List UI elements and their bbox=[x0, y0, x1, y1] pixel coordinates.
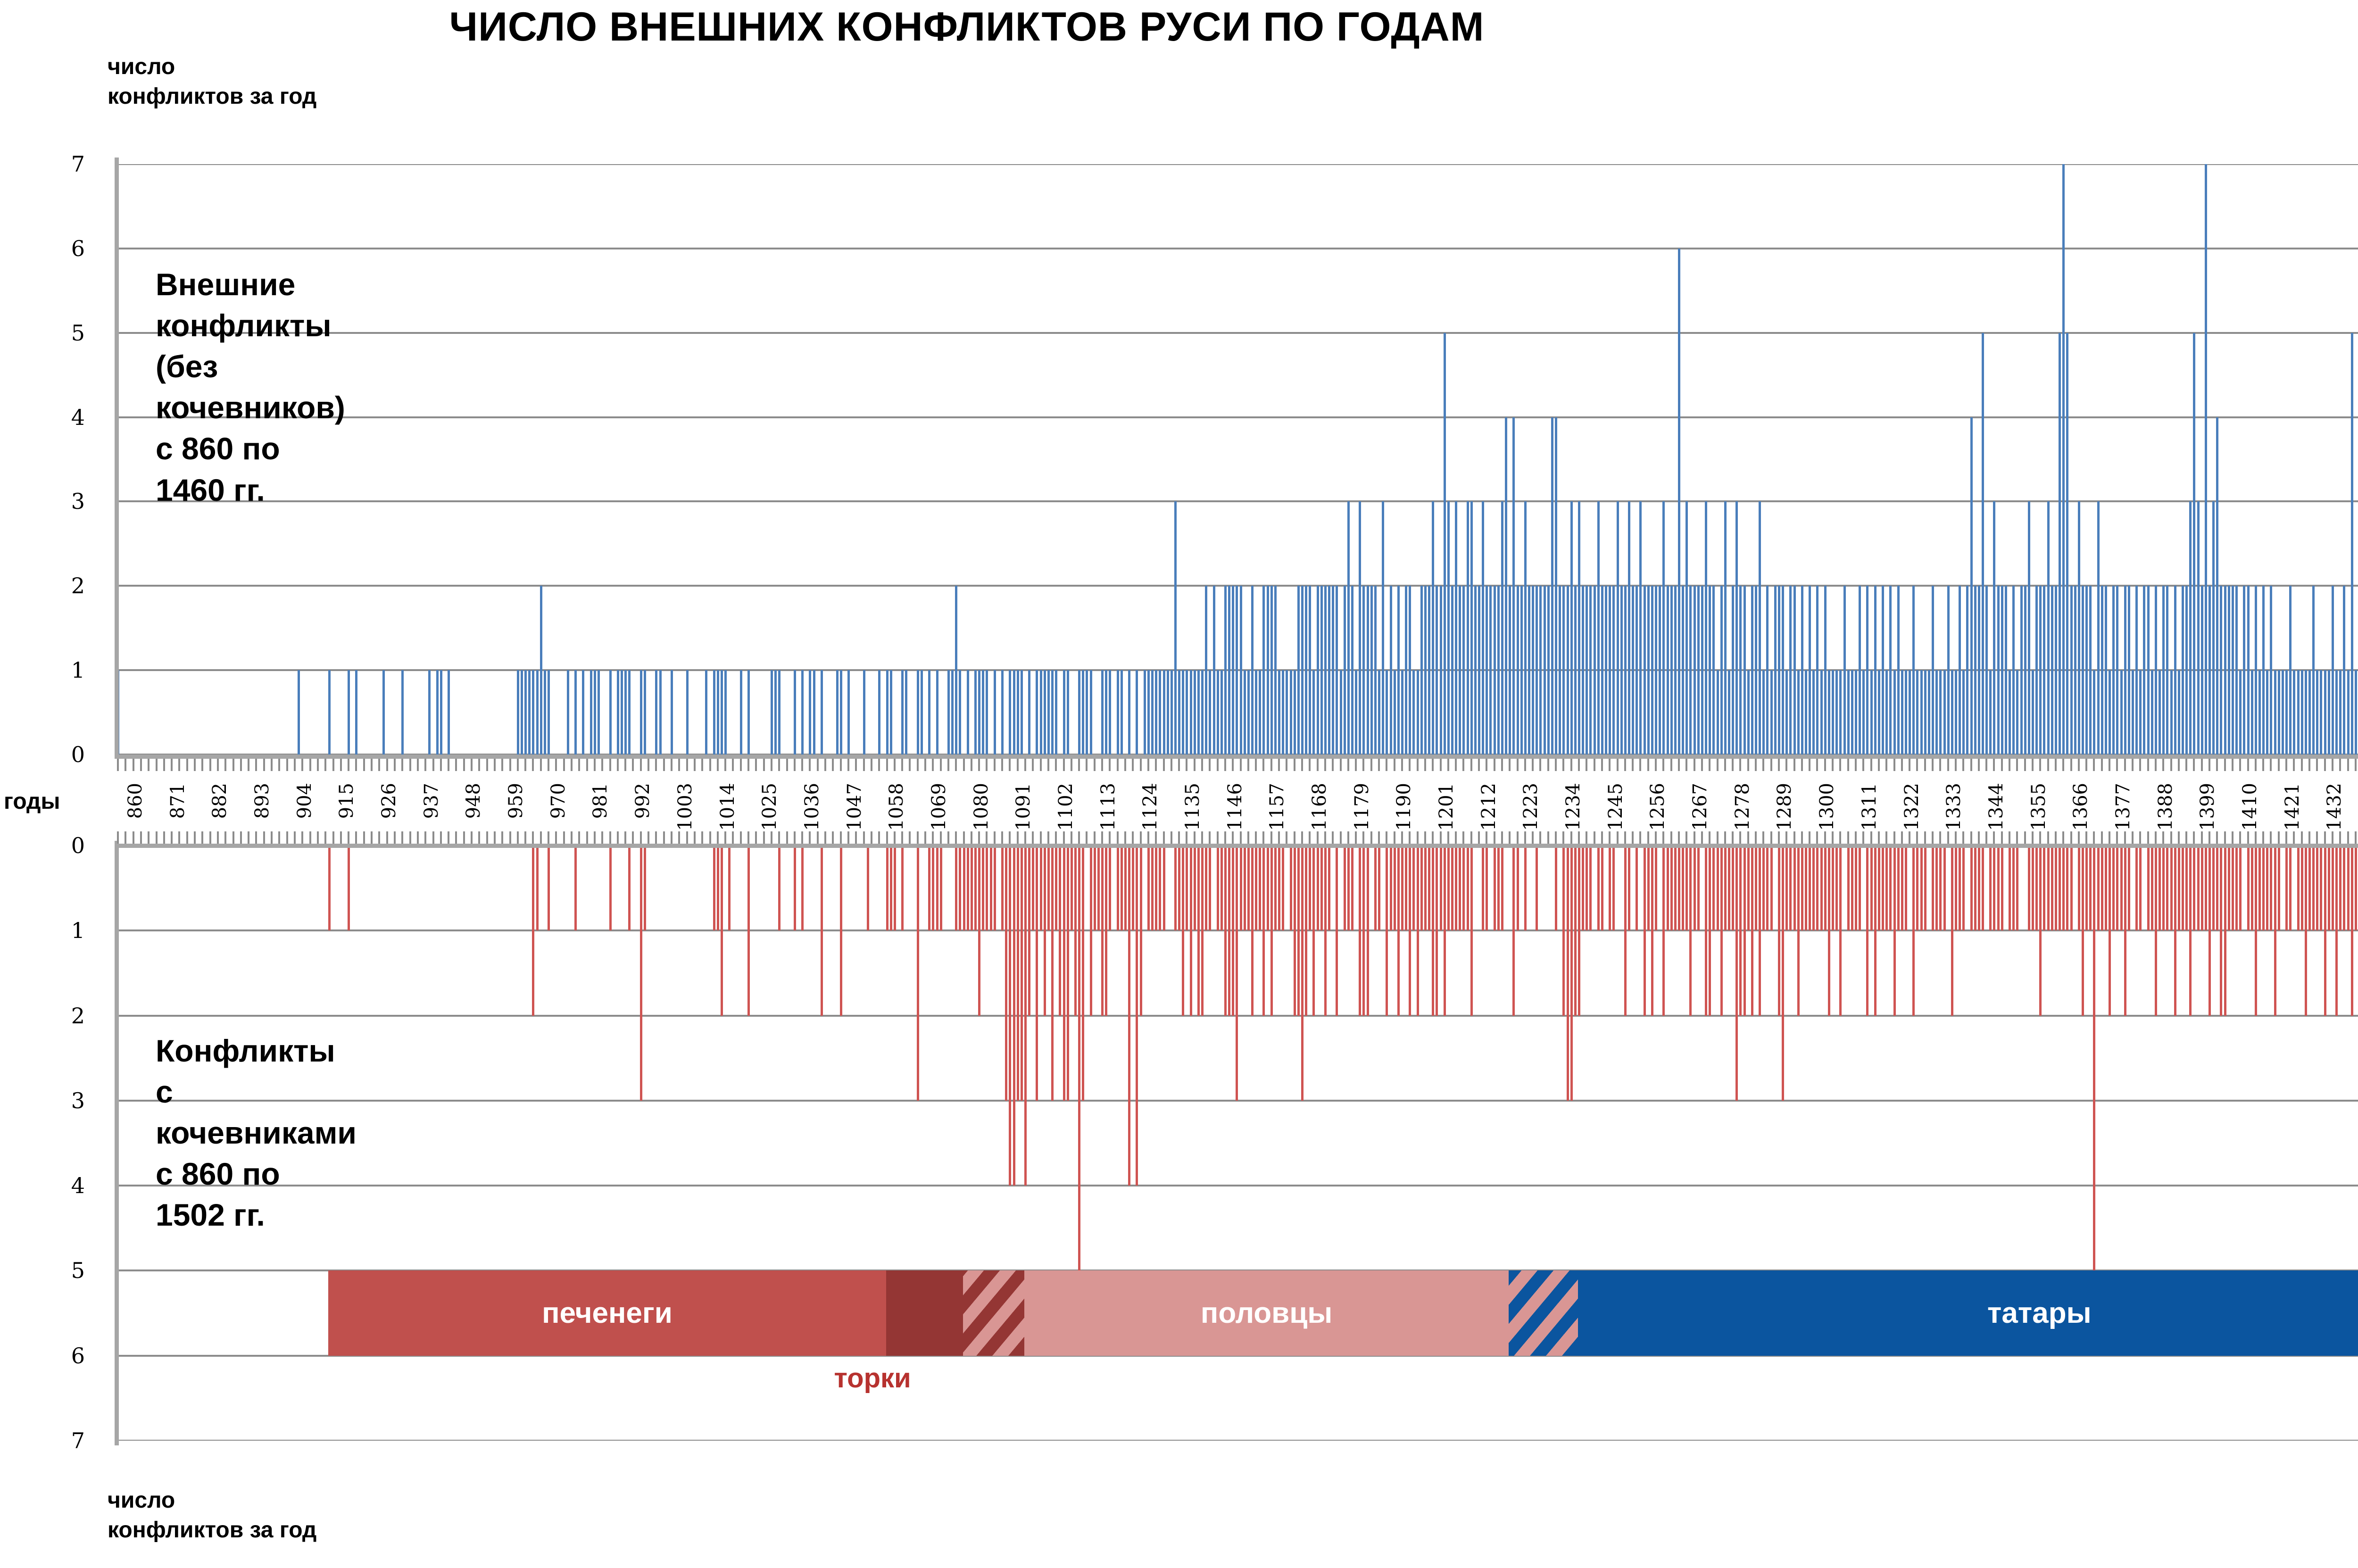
bar-external-1322 bbox=[1893, 670, 1896, 755]
bar-nomad-1337 bbox=[1951, 846, 1953, 1016]
axis-tick bbox=[1224, 831, 1226, 844]
bar-external-1004 bbox=[671, 670, 673, 755]
bar-nomad-1286 bbox=[1755, 846, 1757, 930]
bar-external-1225 bbox=[1520, 586, 1523, 755]
bar-external-1164 bbox=[1286, 670, 1288, 755]
axis-tick bbox=[2224, 831, 2226, 844]
bar-external-1328 bbox=[1916, 670, 1918, 755]
bar-external-1118 bbox=[1109, 670, 1111, 755]
axis-tick bbox=[1785, 831, 1787, 844]
bar-external-1195 bbox=[1405, 586, 1407, 755]
bar-nomad-1097 bbox=[1028, 846, 1030, 1016]
axis-tick bbox=[1171, 759, 1172, 771]
bar-nomad-1207 bbox=[1451, 846, 1453, 930]
bar-nomad-1278 bbox=[1724, 846, 1727, 930]
bar-nomad-1360 bbox=[2039, 846, 2042, 1016]
bar-external-1143 bbox=[1205, 586, 1207, 755]
bar-external-1413 bbox=[2243, 586, 2245, 755]
axis-tick bbox=[909, 759, 911, 771]
bar-nomad-1401 bbox=[2197, 846, 2200, 930]
bar-external-1147 bbox=[1221, 670, 1223, 755]
bar-external-1294 bbox=[1785, 670, 1788, 755]
bar-external-1293 bbox=[1782, 586, 1784, 755]
bar-nomad-1316 bbox=[1870, 846, 1873, 930]
bar-external-1167 bbox=[1297, 586, 1300, 755]
bar-nomad-1436 bbox=[2332, 846, 2334, 930]
bar-external-1340 bbox=[1962, 670, 1965, 755]
bar-nomad-1126 bbox=[1140, 846, 1142, 1016]
bar-external-1391 bbox=[2159, 670, 2161, 755]
bar-nomad-1073 bbox=[936, 846, 938, 930]
axis-tick bbox=[1694, 831, 1695, 844]
bar-external-1215 bbox=[1482, 501, 1484, 755]
axis-tick bbox=[724, 759, 726, 771]
axis-tick bbox=[1862, 831, 1864, 844]
axis-tick bbox=[878, 831, 880, 844]
axis-tick bbox=[494, 759, 496, 771]
bar-external-1377 bbox=[2105, 586, 2107, 755]
bar-external-1153 bbox=[1244, 670, 1246, 755]
bar-external-1324 bbox=[1901, 670, 1903, 755]
bar-nomad-1368 bbox=[2070, 846, 2073, 930]
bar-nomad-1109 bbox=[1074, 846, 1077, 1016]
axis-tick bbox=[471, 831, 473, 844]
axis-tick bbox=[1447, 759, 1449, 771]
axis-tick bbox=[824, 759, 826, 771]
axis-tick bbox=[340, 831, 342, 844]
bar-external-1230 bbox=[1539, 586, 1542, 755]
axis-tick bbox=[2193, 831, 2195, 844]
bar-external-1219 bbox=[1497, 586, 1500, 755]
bar-nomad-1266 bbox=[1678, 846, 1680, 930]
bar-nomad-1062 bbox=[894, 846, 896, 930]
axis-tick bbox=[1962, 759, 1964, 771]
x-tick-label-1113: 1113 bbox=[1097, 783, 1119, 831]
axis-tick bbox=[1140, 831, 1142, 844]
bar-external-1415 bbox=[2251, 670, 2253, 755]
bar-external-1397 bbox=[2182, 586, 2184, 755]
bar-nomad-1130 bbox=[1155, 846, 1157, 930]
axis-tick bbox=[125, 759, 126, 771]
bar-nomad-1169 bbox=[1305, 846, 1307, 1016]
axis-tick bbox=[801, 831, 803, 844]
axis-tick bbox=[655, 831, 657, 844]
bar-external-988 bbox=[609, 670, 612, 755]
axis-tick bbox=[617, 759, 619, 771]
axis-tick bbox=[1247, 759, 1249, 771]
axis-tick bbox=[1240, 831, 1242, 844]
axis-tick bbox=[986, 831, 988, 844]
bar-external-1030 bbox=[771, 670, 773, 755]
axis-tick bbox=[563, 759, 565, 771]
bar-external-1217 bbox=[1489, 586, 1492, 755]
axis-tick bbox=[2062, 831, 2064, 844]
x-tick-label-948: 948 bbox=[463, 783, 484, 819]
bar-external-1404 bbox=[2209, 586, 2211, 755]
axis-tick bbox=[1417, 759, 1419, 771]
bar-nomad-1268 bbox=[1685, 846, 1688, 930]
axis-tick bbox=[409, 759, 411, 771]
bar-external-1222 bbox=[1509, 586, 1511, 755]
bar-nomad-1085 bbox=[982, 846, 984, 930]
bar-external-1378 bbox=[2109, 670, 2111, 755]
bar-nomad-1417 bbox=[2258, 846, 2261, 930]
bar-nomad-1400 bbox=[2193, 846, 2195, 930]
axis-tick bbox=[940, 759, 942, 771]
bar-nomad-1100 bbox=[1040, 846, 1042, 930]
bar-external-1252 bbox=[1624, 586, 1627, 755]
axis-tick bbox=[478, 831, 480, 844]
axis-tick bbox=[1955, 759, 1957, 771]
gridline-6 bbox=[117, 248, 2358, 249]
bar-external-1093 bbox=[1013, 670, 1015, 755]
axis-tick bbox=[1347, 759, 1349, 771]
axis-tick bbox=[632, 759, 634, 771]
axis-tick bbox=[371, 831, 373, 844]
bar-external-915 bbox=[328, 670, 331, 755]
bar-external-1155 bbox=[1251, 586, 1254, 755]
axis-tick bbox=[1001, 831, 1003, 844]
axis-tick bbox=[694, 831, 696, 844]
axis-tick bbox=[1678, 831, 1680, 844]
bar-external-1318 bbox=[1878, 670, 1880, 755]
bar-nomad-1416 bbox=[2255, 846, 2257, 1016]
bar-external-1047 bbox=[836, 670, 839, 755]
axis-tick bbox=[224, 831, 226, 844]
axis-tick bbox=[148, 831, 149, 844]
x-tick-label-1135: 1135 bbox=[1182, 783, 1204, 831]
axis-tick bbox=[1086, 759, 1088, 771]
bar-external-1079 bbox=[959, 670, 961, 755]
bar-nomad-1060 bbox=[886, 846, 888, 930]
axis-tick bbox=[2093, 831, 2095, 844]
x-tick-label-1047: 1047 bbox=[844, 783, 865, 831]
axis-tick bbox=[578, 831, 580, 844]
axis-tick bbox=[1978, 831, 1980, 844]
axis-tick bbox=[1117, 759, 1119, 771]
bar-external-1442 bbox=[2355, 670, 2357, 755]
axis-tick bbox=[1078, 759, 1080, 771]
axis-tick bbox=[1878, 831, 1880, 844]
bar-nomad-1430 bbox=[2308, 846, 2311, 930]
bar-nomad-1287 bbox=[1759, 846, 1761, 1016]
axis-tick bbox=[771, 831, 772, 844]
axis-tick bbox=[1739, 759, 1741, 771]
axis-tick bbox=[217, 759, 219, 771]
axis-tick bbox=[1870, 759, 1872, 771]
axis-tick bbox=[809, 831, 811, 844]
nomad-label-половцы: половцы bbox=[1201, 1296, 1332, 1330]
axis-tick bbox=[1047, 831, 1049, 844]
axis-tick bbox=[1970, 759, 1972, 771]
axis-tick bbox=[863, 759, 865, 771]
axis-tick bbox=[2109, 831, 2110, 844]
axis-tick bbox=[1747, 759, 1749, 771]
bar-external-1204 bbox=[1440, 586, 1442, 755]
bar-external-1303 bbox=[1820, 670, 1823, 755]
bar-nomad-1116 bbox=[1101, 846, 1104, 1016]
axis-tick bbox=[2355, 831, 2357, 844]
bar-nomad-1162 bbox=[1278, 846, 1280, 930]
axis-tick bbox=[2055, 831, 2057, 844]
bar-external-1041 bbox=[813, 670, 815, 755]
x-tick-label-1289: 1289 bbox=[1774, 783, 1795, 831]
bar-nomad-1348 bbox=[1993, 846, 1995, 930]
bar-external-1141 bbox=[1197, 670, 1200, 755]
axis-tick bbox=[971, 831, 972, 844]
bar-nomad-1068 bbox=[917, 846, 919, 1101]
bar-nomad-1284 bbox=[1747, 846, 1750, 930]
axis-tick bbox=[2162, 831, 2164, 844]
bar-nomad-1431 bbox=[2312, 846, 2315, 930]
bar-external-1362 bbox=[2047, 501, 2050, 755]
bar-external-1398 bbox=[2185, 586, 2188, 755]
bar-nomad-1238 bbox=[1570, 846, 1573, 1101]
axis-tick bbox=[1309, 831, 1311, 844]
bar-external-1048 bbox=[840, 670, 842, 755]
bar-external-1298 bbox=[1801, 586, 1803, 755]
bar-nomad-1191 bbox=[1390, 846, 1392, 930]
bar-external-1370 bbox=[2078, 501, 2080, 755]
bar-external-1013 bbox=[705, 670, 707, 755]
bar-nomad-1125 bbox=[1136, 846, 1138, 1186]
axis-tick bbox=[409, 831, 411, 844]
axis-tick bbox=[1632, 831, 1634, 844]
bar-nomad-1199 bbox=[1420, 846, 1423, 930]
bar-nomad-1229 bbox=[1536, 846, 1538, 930]
axis-tick bbox=[1724, 831, 1726, 844]
axis-tick bbox=[2085, 831, 2087, 844]
axis-tick bbox=[778, 759, 780, 771]
bar-nomad-1310 bbox=[1847, 846, 1850, 930]
axis-tick bbox=[156, 759, 158, 771]
bar-nomad-1292 bbox=[1778, 846, 1780, 1016]
bar-nomad-1131 bbox=[1159, 846, 1161, 930]
axis-tick bbox=[1117, 831, 1119, 844]
axis-tick bbox=[1255, 759, 1257, 771]
axis-tick bbox=[2270, 759, 2272, 771]
bar-external-1166 bbox=[1294, 670, 1296, 755]
axis-tick bbox=[2132, 831, 2134, 844]
bar-external-1266 bbox=[1678, 249, 1680, 755]
axis-tick bbox=[755, 759, 757, 771]
bar-external-1130 bbox=[1155, 670, 1157, 755]
bar-nomad-1329 bbox=[1920, 846, 1923, 930]
bar-nomad-1141 bbox=[1197, 846, 1200, 1016]
axis-tick bbox=[1594, 759, 1595, 771]
bar-nomad-1442 bbox=[2355, 846, 2357, 930]
bar-external-983 bbox=[590, 670, 592, 755]
axis-tick bbox=[317, 759, 319, 771]
axis-tick bbox=[332, 831, 334, 844]
axis-tick bbox=[871, 759, 872, 771]
axis-tick bbox=[2232, 831, 2233, 844]
bar-nomad-1340 bbox=[1962, 846, 1965, 930]
axis-tick bbox=[1793, 759, 1795, 771]
axis-tick bbox=[448, 759, 449, 771]
bar-nomad-1123 bbox=[1128, 846, 1130, 1186]
x-tick-label-1311: 1311 bbox=[1859, 783, 1880, 831]
bar-external-1312 bbox=[1855, 670, 1857, 755]
axis-tick bbox=[371, 759, 373, 771]
bar-external-1269 bbox=[1689, 586, 1692, 755]
bar-nomad-1397 bbox=[2182, 846, 2184, 930]
axis-tick bbox=[1678, 759, 1680, 771]
bar-external-1127 bbox=[1144, 670, 1146, 755]
bar-nomad-1135 bbox=[1174, 846, 1177, 930]
axis-tick bbox=[794, 831, 796, 844]
axis-tick bbox=[2332, 759, 2333, 771]
axis-tick bbox=[1816, 759, 1818, 771]
bar-nomad-1208 bbox=[1455, 846, 1457, 930]
y-tick-bottom-6: 6 bbox=[28, 1343, 85, 1369]
bar-nomad-1395 bbox=[2174, 846, 2176, 1016]
bar-external-1359 bbox=[2035, 586, 2038, 755]
bar-external-1038 bbox=[801, 670, 804, 755]
bar-external-1428 bbox=[2301, 670, 2303, 755]
bar-nomad-1386 bbox=[2139, 846, 2142, 930]
axis-tick bbox=[1155, 759, 1157, 771]
axis-tick bbox=[240, 831, 242, 844]
axis-tick bbox=[125, 831, 126, 844]
axis-tick bbox=[486, 831, 488, 844]
bar-external-1343 bbox=[1974, 586, 1976, 755]
bar-external-1423 bbox=[2282, 670, 2284, 755]
axis-tick bbox=[994, 759, 996, 771]
bar-external-1316 bbox=[1870, 670, 1873, 755]
axis-tick bbox=[386, 759, 388, 771]
axis-tick bbox=[140, 831, 142, 844]
bar-external-1401 bbox=[2197, 501, 2200, 755]
axis-tick bbox=[809, 759, 811, 771]
axis-tick bbox=[1909, 831, 1910, 844]
axis-tick bbox=[947, 759, 949, 771]
bar-external-1277 bbox=[1720, 586, 1723, 755]
bar-nomad-1190 bbox=[1386, 846, 1388, 1016]
axis-tick bbox=[740, 759, 742, 771]
bar-nomad-1422 bbox=[2278, 846, 2280, 930]
bar-external-1112 bbox=[1086, 670, 1088, 755]
top-axis-caption: число конфликтов за год bbox=[108, 52, 316, 112]
bar-nomad-1187 bbox=[1374, 846, 1377, 930]
bar-external-1290 bbox=[1770, 670, 1773, 755]
bar-external-1420 bbox=[2270, 586, 2272, 755]
axis-tick bbox=[378, 759, 380, 771]
x-tick-label-1355: 1355 bbox=[2028, 783, 2050, 831]
bar-external-1171 bbox=[1312, 670, 1315, 755]
axis-tick bbox=[894, 759, 896, 771]
axis-tick bbox=[2001, 759, 2003, 771]
x-tick-label-1168: 1168 bbox=[1309, 783, 1330, 831]
bar-external-1426 bbox=[2293, 670, 2295, 755]
bar-nomad-1378 bbox=[2109, 846, 2111, 1016]
bar-external-1125 bbox=[1136, 670, 1138, 755]
bar-nomad-993 bbox=[628, 846, 631, 930]
axis-tick bbox=[248, 831, 249, 844]
bar-external-1360 bbox=[2039, 586, 2042, 755]
axis-tick bbox=[1916, 831, 1918, 844]
y-tick-bottom-7: 7 bbox=[28, 1428, 85, 1453]
axis-tick bbox=[1294, 831, 1295, 844]
bar-external-1168 bbox=[1301, 586, 1304, 755]
axis-tick bbox=[1717, 831, 1719, 844]
axis-tick bbox=[1855, 831, 1857, 844]
axis-tick bbox=[278, 759, 280, 771]
bar-nomad-1285 bbox=[1751, 846, 1753, 1016]
axis-tick bbox=[1394, 831, 1395, 844]
bar-external-1241 bbox=[1582, 586, 1584, 755]
bar-external-1076 bbox=[947, 670, 950, 755]
bar-external-1365 bbox=[2059, 333, 2061, 755]
axis-tick bbox=[2047, 759, 2049, 771]
bar-external-1311 bbox=[1851, 670, 1853, 755]
axis-tick bbox=[355, 831, 357, 844]
axis-tick bbox=[209, 759, 211, 771]
bar-external-1258 bbox=[1647, 586, 1650, 755]
bar-external-1106 bbox=[1063, 670, 1065, 755]
axis-tick bbox=[2162, 759, 2164, 771]
bar-external-1429 bbox=[2305, 670, 2307, 755]
bar-nomad-1374 bbox=[2093, 846, 2095, 1270]
bar-nomad-1371 bbox=[2082, 846, 2084, 1016]
axis-tick bbox=[1340, 759, 1342, 771]
bar-external-1431 bbox=[2312, 586, 2315, 755]
axis-tick bbox=[686, 759, 688, 771]
axis-tick bbox=[224, 759, 226, 771]
axis-tick bbox=[178, 759, 180, 771]
bar-external-1185 bbox=[1367, 586, 1369, 755]
bar-external-1279 bbox=[1728, 670, 1730, 755]
axis-tick bbox=[1509, 831, 1511, 844]
bar-external-1088 bbox=[994, 670, 996, 755]
bar-external-920 bbox=[348, 670, 350, 755]
axis-tick bbox=[209, 831, 211, 844]
axis-tick bbox=[1655, 759, 1657, 771]
axis-tick bbox=[348, 759, 349, 771]
bar-nomad-1111 bbox=[1082, 846, 1084, 1101]
bar-nomad-1168 bbox=[1301, 846, 1304, 1101]
bar-external-1202 bbox=[1432, 501, 1434, 755]
axis-tick bbox=[1017, 831, 1019, 844]
bar-nomad-1389 bbox=[2151, 846, 2153, 930]
bar-external-1405 bbox=[2212, 501, 2215, 755]
axis-tick bbox=[463, 759, 465, 771]
axis-tick bbox=[2170, 759, 2172, 771]
bar-external-1094 bbox=[1017, 670, 1019, 755]
axis-tick bbox=[1432, 831, 1434, 844]
bar-external-1139 bbox=[1190, 670, 1192, 755]
bar-external-1182 bbox=[1355, 670, 1357, 755]
bar-external-1339 bbox=[1959, 586, 1961, 755]
axis-tick bbox=[1747, 831, 1749, 844]
axis-tick bbox=[1201, 759, 1203, 771]
bar-external-1188 bbox=[1378, 670, 1380, 755]
axis-tick bbox=[886, 759, 888, 771]
axis-tick bbox=[2285, 831, 2287, 844]
bar-nomad-1082 bbox=[971, 846, 973, 930]
axis-tick bbox=[2255, 831, 2257, 844]
axis-tick bbox=[340, 759, 342, 771]
axis-tick bbox=[1370, 759, 1372, 771]
axis-tick bbox=[1009, 831, 1011, 844]
axis-tick bbox=[847, 831, 849, 844]
axis-tick bbox=[2009, 831, 2010, 844]
bar-nomad-1280 bbox=[1732, 846, 1734, 930]
bottom-x-axis-line bbox=[115, 844, 2358, 848]
bar-external-1036 bbox=[794, 670, 796, 755]
bar-external-977 bbox=[567, 670, 569, 755]
axis-tick bbox=[1647, 831, 1649, 844]
